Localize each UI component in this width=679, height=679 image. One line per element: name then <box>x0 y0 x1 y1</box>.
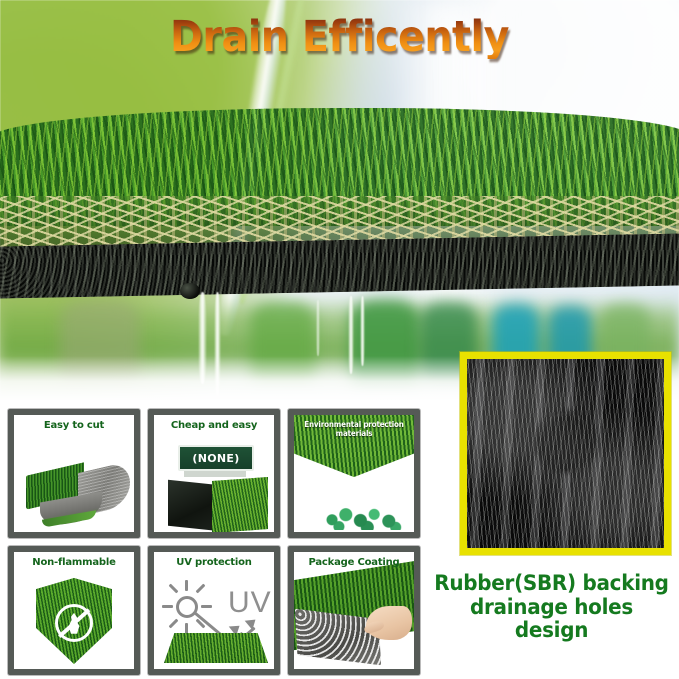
page-title: Drain Efficently <box>27 16 652 59</box>
caption-line-1: Rubber(SBR) backing <box>434 571 668 595</box>
panel-illustration-sign-and-sheets: (NONE) <box>154 415 274 532</box>
turf-cross-section <box>0 108 679 308</box>
feature-panel-easy-to-cut[interactable]: Easy to cut <box>8 409 140 538</box>
feature-panel-package-coating[interactable]: Package Coating <box>288 546 420 675</box>
panel-illustration-hand-lifting-turf <box>294 552 414 669</box>
caption-line-2: drainage holes design <box>430 596 672 643</box>
sun-ray-icon <box>196 584 206 594</box>
hero-photo: Drain Efficently <box>0 0 679 400</box>
rubber-backing-texture <box>467 359 664 548</box>
feature-panel-cheap-and-easy[interactable]: (NONE) Cheap and easy <box>148 409 280 538</box>
feature-panel-non-flammable[interactable]: Non-flammable <box>8 546 140 675</box>
green-turf-sheet <box>212 477 268 533</box>
feature-panel-environmental-protection-materials[interactable]: Environmental protection materials <box>288 409 420 538</box>
sun-ray-icon <box>169 619 179 629</box>
panel-label: UV protection <box>154 557 274 568</box>
rubber-backing-caption: Rubber(SBR) backing drainage holes desig… <box>430 572 672 643</box>
panel-illustration-shield <box>14 552 134 669</box>
uv-label: UV <box>228 588 272 618</box>
sign-post <box>184 471 246 477</box>
panel-label: Non-flammable <box>14 557 134 568</box>
panel-label: Cheap and easy <box>154 420 274 431</box>
drainage-hole-icon <box>537 413 595 471</box>
sun-ray-icon <box>201 605 212 608</box>
rubber-backing-photo-card[interactable] <box>460 352 671 555</box>
water-drip-node-icon <box>180 283 200 299</box>
sun-ray-icon <box>169 584 179 594</box>
draining-water-stream-icon <box>316 300 320 356</box>
turf-surface-icon <box>164 633 268 663</box>
panel-illustration-rolled-turf <box>14 415 134 532</box>
panel-label: Environmental protection materials <box>300 420 408 438</box>
none-sign-text: (NONE) <box>192 452 239 465</box>
sun-ray-icon <box>185 580 188 591</box>
panel-illustration-uv: UV <box>154 552 274 669</box>
panel-label: Easy to cut <box>14 420 134 431</box>
sun-ray-icon <box>185 623 188 634</box>
feature-panel-uv-protection[interactable]: UV UV protection <box>148 546 280 675</box>
no-fire-circle-icon <box>55 604 93 642</box>
green-plastic-pellets-icon <box>320 496 406 530</box>
feature-panel-grid: Easy to cut (NONE) Cheap and easy Enviro… <box>8 409 420 675</box>
panel-label: Package Coating <box>294 557 414 568</box>
rolled-turf-icon <box>26 457 126 519</box>
sun-ray-icon <box>162 605 173 608</box>
none-sign-plate: (NONE) <box>178 445 254 471</box>
product-feature-image: Drain Efficently Easy to cut (NONE) <box>0 0 679 679</box>
